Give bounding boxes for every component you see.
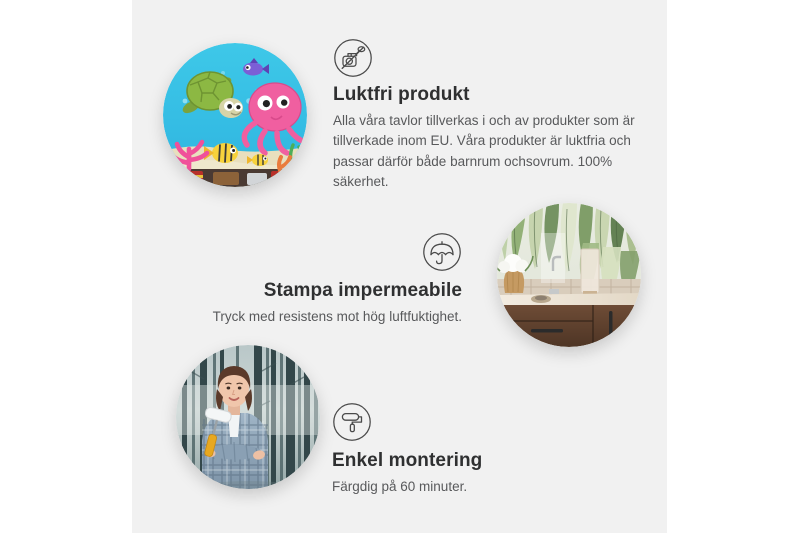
umbrella-icon bbox=[422, 232, 462, 272]
photo-bathroom-botanical-wallpaper bbox=[497, 203, 641, 347]
photo-decorator-forest-mural bbox=[176, 345, 320, 489]
feature-body: Färgdig på 60 minuter. bbox=[332, 477, 612, 498]
feature-headline: Stampa impermeabile bbox=[200, 280, 462, 303]
photo-underwater-cartoon-scene bbox=[163, 43, 307, 187]
feature-waterproof: Stampa impermeabile Tryck med resistens … bbox=[200, 232, 462, 327]
promo-banner: Luktfri produkt Alla våra tavlor tillver… bbox=[0, 0, 800, 533]
feature-easy-mount: Enkel montering Färgdig på 60 minuter. bbox=[332, 402, 612, 497]
feature-body: Tryck med resistens mot hög luftfuktighe… bbox=[200, 307, 462, 328]
feature-odourless: Luktfri produkt Alla våra tavlor tillver… bbox=[333, 38, 638, 193]
feature-headline: Enkel montering bbox=[332, 450, 612, 473]
no-smell-spray-bottle-icon bbox=[333, 38, 373, 78]
feature-headline: Luktfri produkt bbox=[333, 84, 638, 107]
feature-body: Alla våra tavlor tillverkas i och av pro… bbox=[333, 111, 638, 193]
paint-roller-icon bbox=[332, 402, 372, 442]
